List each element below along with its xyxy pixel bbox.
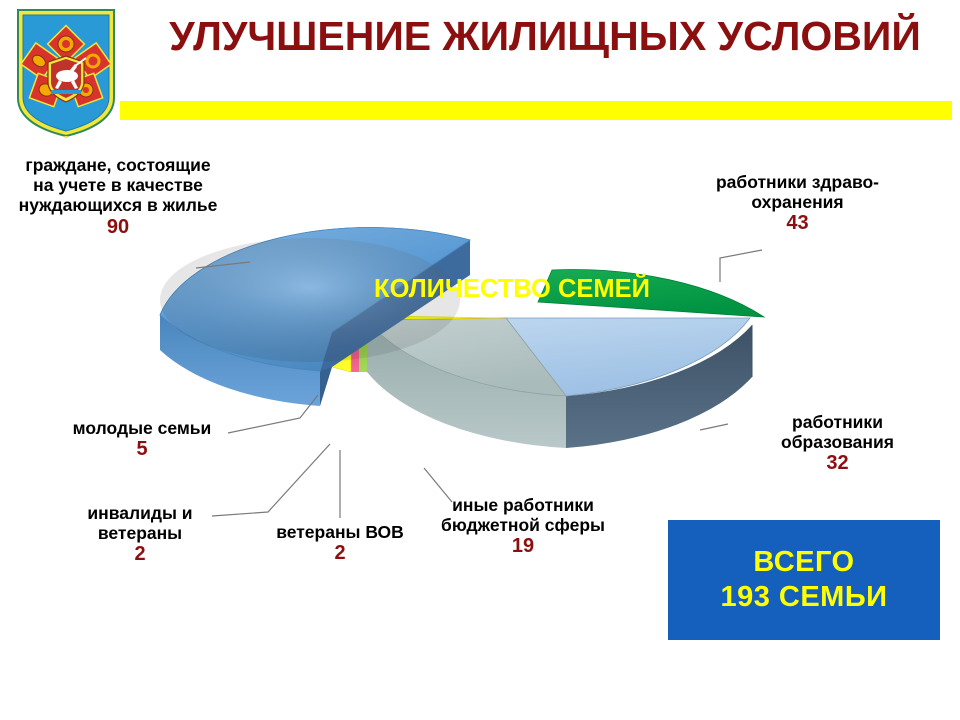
label-education-workers-value: 32 <box>735 452 940 475</box>
label-disabled-veterans-value: 2 <box>50 543 230 566</box>
label-young-families-text: молодые семьи <box>73 418 212 438</box>
label-disabled-veterans-text: инвалиды и ветераны <box>87 503 192 543</box>
label-disabled-veterans: инвалиды и ветераны 2 <box>50 503 230 566</box>
label-citizens: граждане, состоящие на учете в качестве … <box>18 155 218 239</box>
label-healthcare-workers: работники здраво-охранения 43 <box>700 172 895 235</box>
label-vov-veterans-text: ветераны ВОВ <box>276 522 404 542</box>
accent-bar <box>120 101 952 120</box>
label-young-families-value: 5 <box>62 438 222 461</box>
slide: УЛУЧШЕНИЕ ЖИЛИЩНЫХ УСЛОВИЙ <box>0 0 960 720</box>
coat-of-arms-emblem <box>12 6 120 138</box>
label-healthcare-workers-text: работники здраво-охранения <box>716 172 879 212</box>
label-other-budget-workers: иные работники бюджетной сферы 19 <box>438 495 608 558</box>
total-value: 193 СЕМЬИ <box>720 580 887 615</box>
label-education-workers-text: работники образования <box>781 412 894 452</box>
total-families-box: ВСЕГО 193 СЕМЬИ <box>668 520 940 640</box>
label-vov-veterans: ветераны ВОВ 2 <box>265 522 415 565</box>
label-citizens-value: 90 <box>18 215 218 239</box>
label-citizens-text: граждане, состоящие на учете в качестве … <box>19 155 218 215</box>
label-vov-veterans-value: 2 <box>265 542 415 565</box>
total-label: ВСЕГО <box>753 545 854 580</box>
label-young-families: молодые семьи 5 <box>62 418 222 461</box>
chart-center-label: КОЛИЧЕСТВО СЕМЕЙ <box>374 273 650 303</box>
label-education-workers: работники образования 32 <box>735 412 940 475</box>
label-other-budget-workers-text: иные работники бюджетной сферы <box>441 495 605 535</box>
label-healthcare-workers-value: 43 <box>700 212 895 235</box>
label-other-budget-workers-value: 19 <box>438 535 608 558</box>
page-title: УЛУЧШЕНИЕ ЖИЛИЩНЫХ УСЛОВИЙ <box>150 14 940 58</box>
